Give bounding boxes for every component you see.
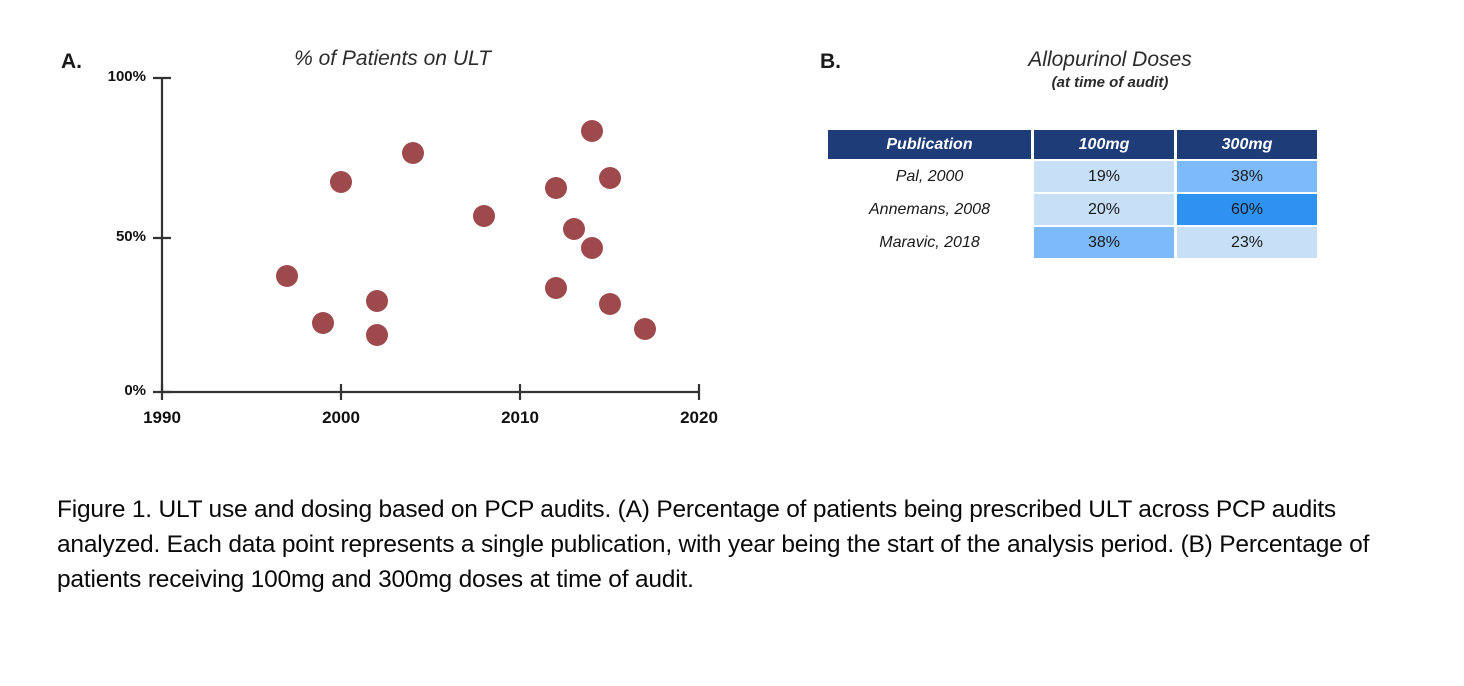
table-row: Maravic, 201838%23% (828, 227, 1317, 258)
figure-root: A. % of Patients on ULT 100% 50% (0, 0, 1464, 686)
allopurinol-doses-table: Publication 100mg 300mg Pal, 200019%38%A… (825, 128, 1320, 260)
table-subtitle: (at time of audit) (900, 74, 1320, 91)
x-tick-label-2010: 2010 (480, 408, 560, 428)
scatter-point (581, 120, 603, 142)
figure-caption: Figure 1. ULT use and dosing based on PC… (57, 492, 1412, 597)
y-tick-label-100: 100% (88, 68, 146, 85)
table-header-row: Publication 100mg 300mg (828, 130, 1317, 159)
scatter-point (599, 167, 621, 189)
scatter-point (563, 218, 585, 240)
x-tick-label-2000: 2000 (301, 408, 381, 428)
table-row: Pal, 200019%38% (828, 161, 1317, 192)
y-tick-label-0: 0% (88, 382, 146, 399)
panel-b-label: B. (820, 50, 841, 74)
panel-a-scatter: A. % of Patients on ULT 100% 50% (0, 0, 800, 470)
cell-publication: Maravic, 2018 (828, 227, 1031, 258)
cell-dose-300mg: 23% (1177, 227, 1317, 258)
scatter-point (330, 171, 352, 193)
cell-dose-300mg: 60% (1177, 194, 1317, 225)
caption-text: Figure 1. ULT use and dosing based on PC… (57, 492, 1412, 597)
table-body: Pal, 200019%38%Annemans, 200820%60%Marav… (828, 161, 1317, 258)
table-title: Allopurinol Doses (900, 48, 1320, 72)
table-row: Annemans, 200820%60% (828, 194, 1317, 225)
cell-publication: Annemans, 2008 (828, 194, 1031, 225)
column-header-publication: Publication (828, 130, 1031, 159)
column-header-300mg: 300mg (1177, 130, 1317, 159)
plot-area: 100% 50% 0% 1990 2000 2010 2020 (0, 0, 800, 470)
table-header: Publication 100mg 300mg (828, 130, 1317, 159)
scatter-point (276, 265, 298, 287)
scatter-point (402, 142, 424, 164)
cell-dose-100mg: 20% (1034, 194, 1174, 225)
scatter-point (366, 290, 388, 312)
column-header-100mg: 100mg (1034, 130, 1174, 159)
cell-publication: Pal, 2000 (828, 161, 1031, 192)
x-tick-label-2020: 2020 (659, 408, 739, 428)
cell-dose-100mg: 38% (1034, 227, 1174, 258)
cell-dose-300mg: 38% (1177, 161, 1317, 192)
y-tick-label-50: 50% (88, 228, 146, 245)
scatter-point (545, 177, 567, 199)
x-tick-label-1990: 1990 (122, 408, 202, 428)
cell-dose-100mg: 19% (1034, 161, 1174, 192)
scatter-point (581, 237, 603, 259)
scatter-point (599, 293, 621, 315)
scatter-point (312, 312, 334, 334)
